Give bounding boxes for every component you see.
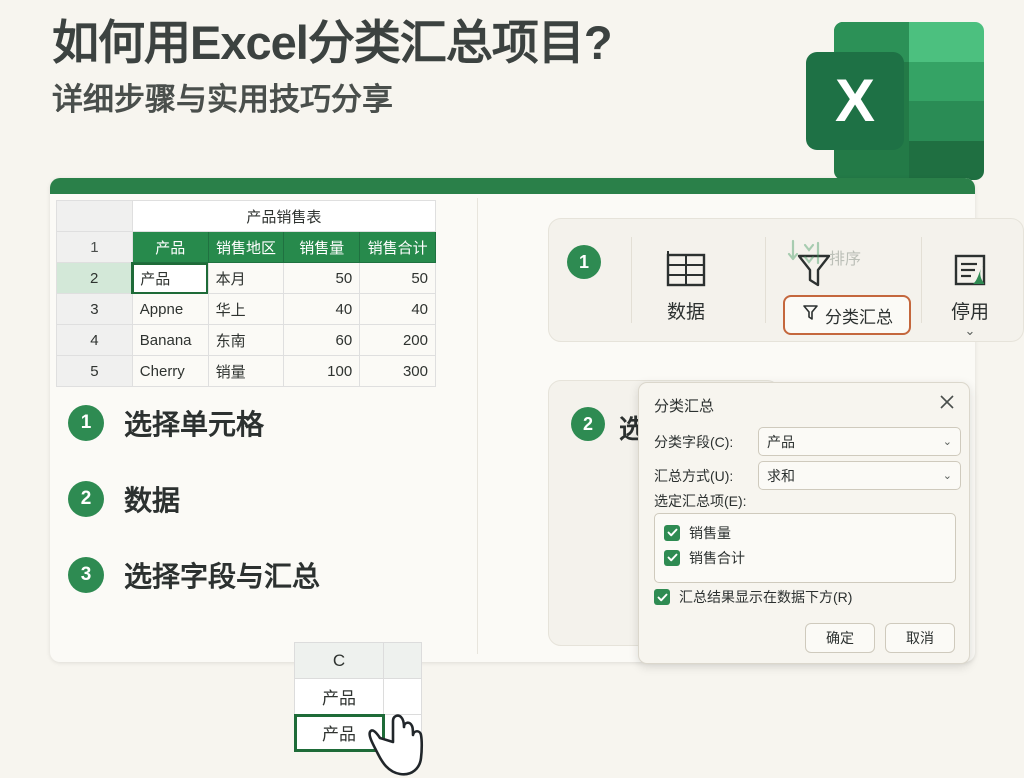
dialog-method-value: 求和 (767, 466, 795, 486)
step-item-3: 3 选择字段与汇总 (68, 555, 468, 595)
cell-product-5[interactable]: Cherry (132, 356, 208, 387)
excel-logo-letter: X (835, 71, 875, 131)
excel-logo-quad-1 (909, 22, 984, 62)
row-number-1: 1 (57, 232, 133, 263)
dialog-method-select[interactable]: 求和 ⌄ (758, 461, 961, 490)
step-label-3: 选择字段与汇总 (124, 555, 320, 595)
excel-logo-tile: X (806, 52, 904, 150)
cancel-button[interactable]: 取消 (885, 623, 955, 653)
table-row[interactable]: 4 Banana 东南 60 200 (57, 325, 436, 356)
cell-region-4[interactable]: 东南 (208, 325, 284, 356)
poster-root: 如何用Excel分类汇总项目? 详细步骤与实用技巧分享 X 产品销售表 (0, 0, 1024, 683)
step-list: 1 选择单元格 2 数据 3 选择字段与汇总 (68, 403, 468, 631)
chevron-down-icon: ⌄ (943, 469, 952, 482)
panel-divider (477, 198, 478, 654)
excel-logo-quad-3 (909, 101, 984, 141)
cell-qty-4[interactable]: 60 (284, 325, 360, 356)
cell-region-2[interactable]: 本月 (208, 263, 284, 294)
step-badge-3: 3 (68, 557, 104, 593)
row-number-2[interactable]: 2 (57, 263, 133, 294)
cell-qty-3[interactable]: 40 (284, 294, 360, 325)
excel-logo: X (806, 22, 984, 180)
dialog-below-option[interactable]: 汇总结果显示在数据下方(R) (654, 587, 852, 607)
ribbon-item-data[interactable]: 数据 (643, 241, 729, 324)
ribbon-separator-1 (631, 237, 632, 323)
checkbox-checked-icon[interactable] (664, 550, 680, 566)
document-icon (949, 241, 991, 291)
dialog-items-label: 选定汇总项(E): (654, 491, 747, 511)
ribbon-item-subtotal[interactable]: 分类汇总 (783, 295, 911, 335)
row-number-4[interactable]: 4 (57, 325, 133, 356)
table-row[interactable]: 3 Appne 华上 40 40 (57, 294, 436, 325)
mini-grid-header-row: C (295, 643, 422, 679)
ribbon-label-sort: 排序 (829, 245, 861, 269)
spreadsheet-table: 产品销售表 1 产品 销售地区 销售量 销售合计 2 产品 本月 50 50 (56, 200, 436, 387)
cell-region-3[interactable]: 华上 (208, 294, 284, 325)
cell-qty-2[interactable]: 50 (284, 263, 360, 294)
col-header-qty: 销售量 (284, 232, 360, 263)
row-number-3[interactable]: 3 (57, 294, 133, 325)
cell-region-5[interactable]: 销量 (208, 356, 284, 387)
checkbox-checked-icon[interactable] (664, 525, 680, 541)
ribbon-label-subtotal: 分类汇总 (825, 303, 893, 328)
spreadsheet: 产品销售表 1 产品 销售地区 销售量 销售合计 2 产品 本月 50 50 (56, 200, 436, 387)
dialog-method-label: 汇总方式(U): (654, 466, 758, 486)
select-step-badge: 2 (571, 407, 605, 441)
table-grid-icon (664, 241, 708, 291)
dialog-field-select[interactable]: 产品 ⌄ (758, 427, 961, 456)
dialog-below-label: 汇总结果显示在数据下方(R) (679, 587, 852, 607)
cell-product-2[interactable]: 产品 (132, 263, 208, 294)
subtotal-funnel-icon (801, 303, 820, 327)
ribbon-badge: 1 (567, 245, 601, 279)
dialog-item-label-2: 销售合计 (689, 548, 745, 568)
corner-cell (57, 201, 133, 232)
ribbon-toolbar: 1 数据 (548, 218, 1024, 342)
table-caption-row: 产品销售表 (57, 201, 436, 232)
dialog-title: 分类汇总 (654, 395, 714, 416)
table-header-row: 1 产品 销售地区 销售量 销售合计 (57, 232, 436, 263)
card-top-bar (50, 178, 975, 194)
sheet-caption: 产品销售表 (132, 201, 435, 232)
table-row[interactable]: 5 Cherry 销量 100 300 (57, 356, 436, 387)
list-item[interactable]: 销售合计 (655, 545, 955, 570)
step-item-1: 1 选择单元格 (68, 403, 468, 443)
dialog-field-row: 分类字段(C): 产品 ⌄ (654, 427, 961, 456)
step-badge-2: 2 (68, 481, 104, 517)
hand-pointer-icon (366, 704, 428, 778)
step-item-2: 2 数据 (68, 479, 468, 519)
dialog-item-label-1: 销售量 (689, 523, 731, 543)
dialog-field-value: 产品 (767, 432, 795, 452)
row-number-5[interactable]: 5 (57, 356, 133, 387)
ribbon-separator-3 (921, 237, 922, 323)
mini-grid: C 产品 产品 (294, 642, 422, 748)
dialog-buttons: 确定 取消 (805, 623, 955, 653)
ok-button[interactable]: 确定 (805, 623, 875, 653)
chevron-down-icon[interactable]: ⌄ (965, 324, 976, 337)
cell-product-4[interactable]: Banana (132, 325, 208, 356)
table-row[interactable]: 2 产品 本月 50 50 (57, 263, 436, 294)
col-header-product: 产品 (132, 232, 208, 263)
dialog-method-row: 汇总方式(U): 求和 ⌄ (654, 461, 961, 490)
ribbon-item-sort-ghost[interactable]: 排序 (785, 237, 905, 276)
ribbon-separator-2 (765, 237, 766, 323)
list-item[interactable]: 销售量 (655, 520, 955, 545)
excel-logo-quad-2 (909, 62, 984, 102)
step-label-2: 数据 (124, 479, 180, 519)
ribbon-item-disable[interactable]: 停用 ⌄ (927, 241, 1013, 337)
mini-grid-col-header-empty (384, 643, 422, 679)
cell-total-5[interactable]: 300 (360, 356, 436, 387)
excel-logo-quad-4 (909, 141, 984, 181)
cell-product-3[interactable]: Appne (132, 294, 208, 325)
dialog-items-list: 销售量 销售合计 (654, 513, 956, 583)
step-label-1: 选择单元格 (124, 403, 264, 443)
sort-arrows-icon (785, 237, 825, 276)
cell-total-4[interactable]: 200 (360, 325, 436, 356)
checkbox-checked-icon[interactable] (654, 589, 670, 605)
chevron-down-icon: ⌄ (943, 435, 952, 448)
cell-total-2[interactable]: 50 (360, 263, 436, 294)
cell-qty-5[interactable]: 100 (284, 356, 360, 387)
ribbon-label-disable: 停用 (951, 297, 989, 324)
ribbon-label-data: 数据 (667, 297, 705, 324)
col-header-region: 销售地区 (208, 232, 284, 263)
mini-grid-col-header: C (295, 643, 384, 679)
subtotal-dialog: 分类汇总 分类字段(C): 产品 ⌄ 汇总方式(U): 求和 ⌄ 选定汇总项(E… (638, 382, 970, 664)
step-badge-1: 1 (68, 405, 104, 441)
dialog-field-label: 分类字段(C): (654, 432, 758, 452)
cell-total-3[interactable]: 40 (360, 294, 436, 325)
col-header-total: 销售合计 (360, 232, 436, 263)
close-icon[interactable] (937, 392, 957, 412)
